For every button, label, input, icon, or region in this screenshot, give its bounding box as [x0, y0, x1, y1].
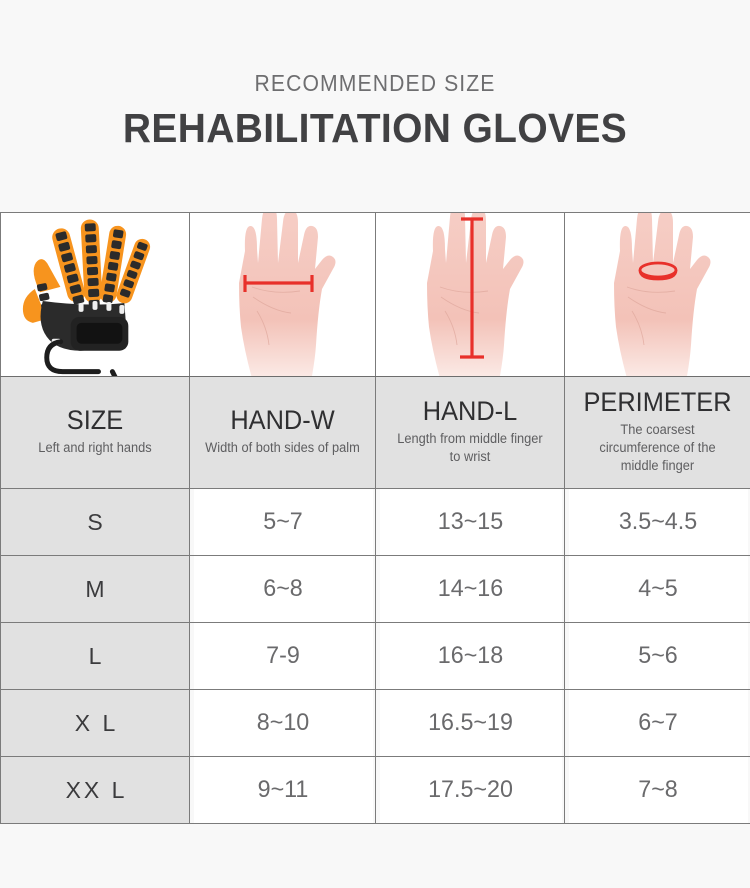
hand-length-image-cell: [376, 213, 565, 377]
illustration-row: [1, 213, 750, 377]
cell-perimeter: 6~7: [567, 690, 747, 757]
table-row: X L 8~10 16.5~19 6~7: [1, 690, 750, 757]
table-row: S 5~7 13~15 3.5~4.5: [1, 489, 750, 556]
column-header-size: SIZE Left and right hands: [1, 377, 190, 489]
cell-size: X L: [1, 690, 190, 757]
page-subtitle: RECOMMENDED SIZE: [30, 72, 720, 95]
cell-size: L: [1, 623, 190, 690]
cell-hand-w: 5~7: [192, 489, 372, 556]
column-title: HAND-L: [385, 397, 554, 425]
column-header-hand-l: HAND-L Length from middle finger to wris…: [376, 377, 565, 489]
cell-size: M: [1, 556, 190, 623]
hand-shape: [427, 213, 524, 376]
cell-perimeter: 7~8: [567, 757, 747, 824]
cell-hand-l: 13~15: [378, 489, 561, 556]
column-subtitle: Length from middle finger to wrist: [385, 430, 556, 466]
column-subtitle: Width of both sides of palm: [198, 439, 366, 457]
cell-size: XX L: [1, 757, 190, 824]
cell-perimeter: 5~6: [567, 623, 747, 690]
cell-hand-w: 7-9: [192, 623, 372, 690]
cell-perimeter: 3.5~4.5: [567, 489, 747, 556]
page-title: REHABILITATION GLOVES: [19, 108, 732, 149]
hand-length-illustration: [376, 213, 565, 376]
column-header-perimeter: PERIMETER The coarsest circumference of …: [565, 377, 750, 489]
cell-hand-l: 17.5~20: [378, 757, 561, 824]
cell-hand-w: 8~10: [192, 690, 372, 757]
finger-perimeter-illustration: [565, 213, 750, 376]
hand-width-illustration: [190, 213, 376, 376]
cell-hand-l: 14~16: [378, 556, 561, 623]
column-header-row: SIZE Left and right hands HAND-W Width o…: [1, 377, 750, 489]
hand-shape: [239, 213, 336, 376]
column-title: PERIMETER: [574, 388, 740, 416]
column-title: HAND-W: [199, 406, 365, 434]
table-row: XX L 9~11 17.5~20 7~8: [1, 757, 750, 824]
rehabilitation-glove-illustration: [1, 213, 189, 376]
cell-size: S: [1, 489, 190, 556]
cell-hand-w: 6~8: [192, 556, 372, 623]
cell-hand-l: 16~18: [378, 623, 561, 690]
column-subtitle: The coarsest circumference of the middle…: [573, 421, 741, 475]
column-subtitle: Left and right hands: [10, 439, 181, 457]
finger-perimeter-image-cell: [565, 213, 750, 377]
cell-hand-w: 9~11: [192, 757, 372, 824]
table-row: L 7-9 16~18 5~6: [1, 623, 750, 690]
cell-hand-l: 16.5~19: [378, 690, 561, 757]
cell-perimeter: 4~5: [567, 556, 747, 623]
hand-width-image-cell: [190, 213, 376, 377]
hand-shape: [614, 213, 711, 376]
column-header-hand-w: HAND-W Width of both sides of palm: [190, 377, 376, 489]
column-title: SIZE: [10, 406, 179, 434]
size-chart-table: SIZE Left and right hands HAND-W Width o…: [0, 212, 750, 824]
glove-image-cell: [1, 213, 190, 377]
table-row: M 6~8 14~16 4~5: [1, 556, 750, 623]
page-header: RECOMMENDED SIZE REHABILITATION GLOVES: [0, 0, 750, 149]
